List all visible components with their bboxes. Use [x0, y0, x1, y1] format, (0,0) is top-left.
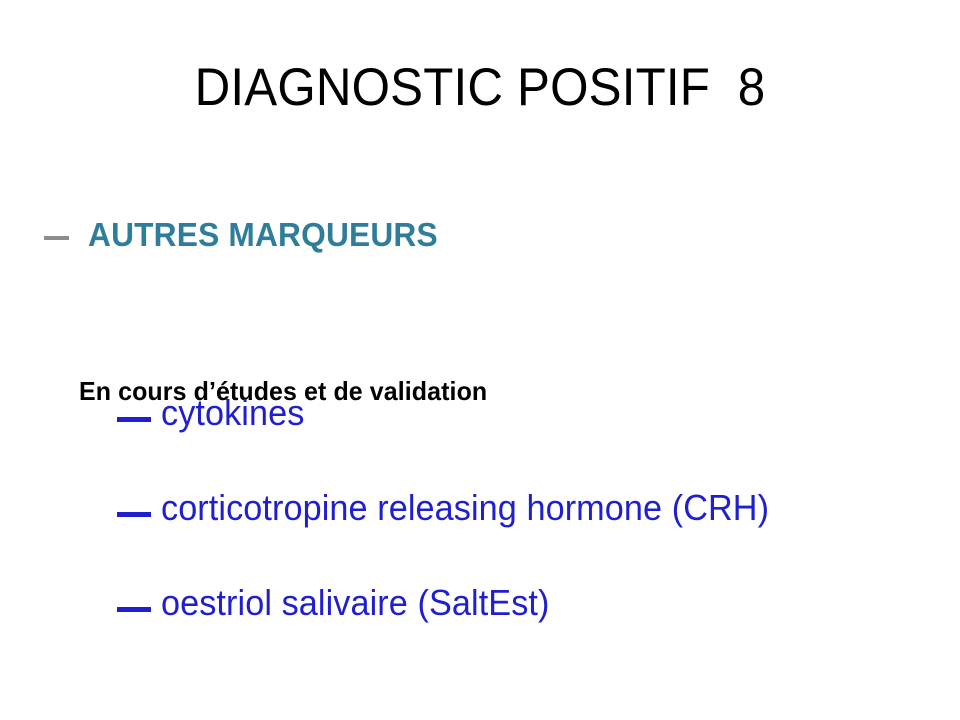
dash-bullet-icon	[117, 512, 151, 517]
bullet-list: cytokines corticotropine releasing hormo…	[0, 390, 960, 675]
heading-row: AUTRES MARQUEURS	[0, 200, 960, 264]
list-item: corticotropine releasing hormone (CRH)	[0, 485, 960, 580]
dash-bullet-icon	[117, 417, 151, 422]
list-item-label: corticotropine releasing hormone (CRH)	[161, 487, 769, 529]
list-item: cytokines	[0, 390, 960, 485]
heading-label: AUTRES MARQUEURS	[88, 216, 438, 254]
slide-title: DIAGNOSTIC POSITIF 8	[34, 58, 927, 117]
list-item-label: cytokines	[161, 392, 304, 434]
presentation-slide: DIAGNOSTIC POSITIF 8 AUTRES MARQUEURS En…	[0, 0, 960, 720]
dash-bullet-icon	[117, 607, 151, 612]
subheading-row: En cours d’études et de validation	[0, 264, 960, 338]
slide-body: AUTRES MARQUEURS En cours d’études et de…	[0, 200, 960, 338]
list-item: oestriol salivaire (SaltEst)	[0, 580, 960, 675]
list-item-label: oestriol salivaire (SaltEst)	[161, 582, 549, 624]
dash-bullet-icon	[44, 236, 69, 240]
